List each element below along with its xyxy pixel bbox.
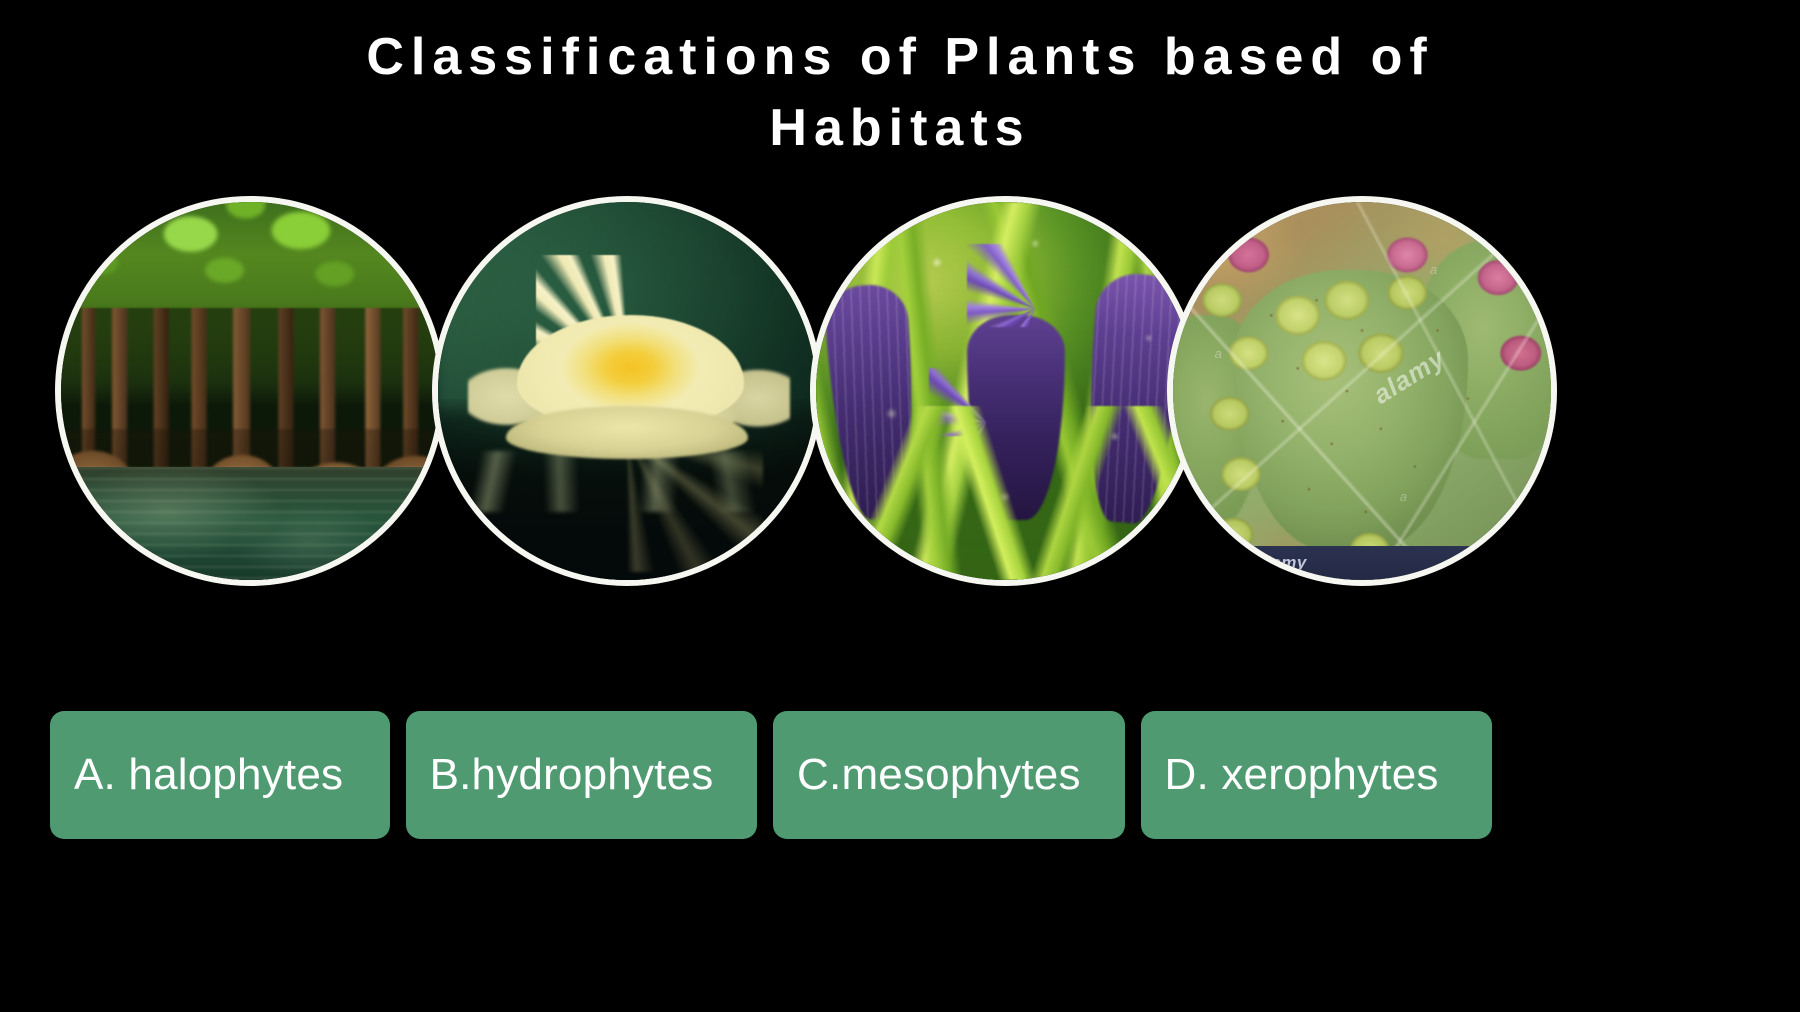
answer-option-d[interactable]: D. xerophytes [1141,711,1492,839]
alamy-watermark-small-top: a [1430,262,1437,277]
quiz-slide: Classifications of Plants based of Habit… [0,0,1800,1012]
figure-mangrove-swamp [55,196,445,586]
answer-option-b[interactable]: B.hydrophytes [406,711,757,839]
alamy-watermark-small-left: a [1215,346,1222,361]
alamy-banner: alamy [1173,546,1551,580]
figure-water-lily [432,196,822,586]
answer-option-d-label: D. xerophytes [1165,750,1439,800]
figure-purple-gentians [810,196,1200,586]
answer-option-c[interactable]: C.mesophytes [773,711,1124,839]
answer-option-a-label: A. halophytes [74,750,343,800]
answer-option-c-label: C.mesophytes [797,750,1081,800]
figure-prickly-pear-cactus: a a a alamy alamy [1167,196,1557,586]
cactus-photo: a a a alamy alamy [1173,202,1551,580]
mangrove-photo [61,202,439,580]
alamy-watermark-small-bottom: a [1400,489,1407,504]
alamy-banner-label: alamy [1256,553,1307,573]
gentians-photo [816,202,1194,580]
answer-option-a[interactable]: A. halophytes [50,711,390,839]
figure-row: a a a alamy alamy [0,196,1800,608]
water-lily-photo [438,202,816,580]
answer-option-b-label: B.hydrophytes [430,750,714,800]
answer-options: A. halophytes B.hydrophytes C.mesophytes… [50,711,1492,839]
page-title: Classifications of Plants based of Habit… [180,22,1620,163]
